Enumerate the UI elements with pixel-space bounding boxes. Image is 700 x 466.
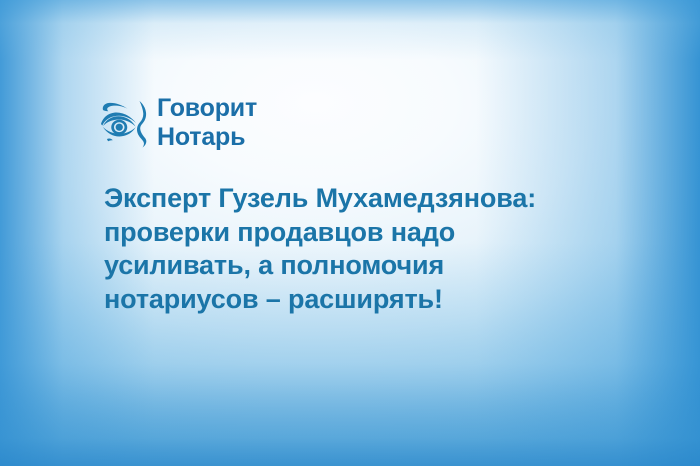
brand-logo[interactable]: Говорит Нотарь <box>100 96 257 151</box>
poster-card: Говорит Нотарь Эксперт Гузель Мухамедзян… <box>0 0 700 466</box>
headline-line-2: проверки продавцов надо <box>104 216 624 250</box>
brand-wordmark: Говорит Нотарь <box>157 96 257 151</box>
brand-wordmark-line-1: Говорит <box>157 96 257 121</box>
brand-wordmark-line-2: Нотарь <box>157 125 257 150</box>
headline: Эксперт Гузель Мухамедзянова: проверки п… <box>104 182 624 316</box>
headline-line-3: усиливать, а полномочия <box>104 249 624 283</box>
headline-line-1: Эксперт Гузель Мухамедзянова: <box>104 182 624 216</box>
poster-content: Говорит Нотарь Эксперт Гузель Мухамедзян… <box>0 0 700 466</box>
headline-line-4: нотариусов – расширять! <box>104 283 624 317</box>
owl-eye-icon <box>100 97 148 151</box>
